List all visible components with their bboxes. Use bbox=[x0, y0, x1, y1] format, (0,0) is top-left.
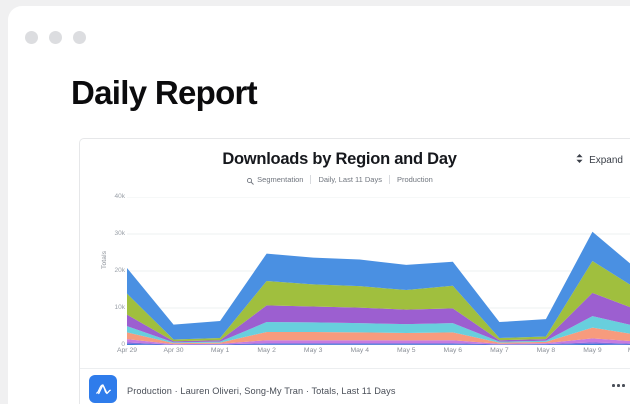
amplitude-logo-icon bbox=[89, 375, 117, 403]
x-axis-tick-label: May 2 bbox=[257, 347, 276, 354]
date-range-label: Daily, Last 11 Days bbox=[318, 175, 382, 184]
x-axis-tick-label: May 1 bbox=[211, 347, 230, 354]
segmentation-icon bbox=[246, 177, 254, 185]
page-title: Daily Report bbox=[71, 74, 257, 112]
x-axis-ticks: Apr 29Apr 30May 1May 2May 3May 4May 5May… bbox=[127, 347, 630, 361]
x-axis-tick-label: May 3 bbox=[304, 347, 323, 354]
maximize-window-dot[interactable] bbox=[73, 31, 86, 44]
date-range-chip[interactable]: Daily, Last 11 Days bbox=[311, 175, 389, 184]
environment-label: Production bbox=[397, 175, 433, 184]
x-axis-tick-label: May 6 bbox=[444, 347, 463, 354]
chart-card-footer: Production · Lauren Oliveri, Song-My Tra… bbox=[80, 368, 630, 404]
x-axis-tick-label: May 5 bbox=[397, 347, 416, 354]
x-axis-tick-label: May 9 bbox=[583, 347, 602, 354]
chart-card: Downloads by Region and Day Segmentation… bbox=[79, 138, 630, 404]
y-axis-tick-label: 10k bbox=[95, 304, 125, 311]
chart-subtitle: Segmentation Daily, Last 11 Days Product… bbox=[80, 175, 630, 184]
x-axis-tick-label: Apr 30 bbox=[164, 347, 184, 354]
chart-plot-area[interactable] bbox=[127, 197, 630, 345]
segmentation-label: Segmentation bbox=[257, 175, 303, 184]
x-axis-tick-label: May 7 bbox=[490, 347, 509, 354]
y-axis-ticks: 40k30k20k10k0 bbox=[87, 197, 125, 345]
minimize-window-dot[interactable] bbox=[49, 31, 62, 44]
app-window: Daily Report Downloads by Region and Day… bbox=[8, 6, 630, 404]
x-axis-tick-label: Apr 29 bbox=[117, 347, 137, 354]
close-window-dot[interactable] bbox=[25, 31, 38, 44]
chart-card-header: Downloads by Region and Day Segmentation… bbox=[80, 139, 630, 197]
y-axis-tick-label: 20k bbox=[95, 267, 125, 274]
window-traffic-lights bbox=[25, 31, 86, 44]
chart-plot-wrapper: Totals 40k30k20k10k0 Apr 29Apr 30May 1Ma… bbox=[80, 197, 630, 355]
y-axis-tick-label: 40k bbox=[95, 193, 125, 200]
expand-button[interactable]: Expand bbox=[575, 153, 623, 167]
footer-description: Production · Lauren Oliveri, Song-My Tra… bbox=[127, 386, 396, 396]
chart-title: Downloads by Region and Day bbox=[80, 150, 630, 169]
chevron-up-down-icon bbox=[575, 153, 584, 167]
y-axis-tick-label: 30k bbox=[95, 230, 125, 237]
environment-chip[interactable]: Production bbox=[390, 175, 440, 184]
segmentation-chip[interactable]: Segmentation bbox=[239, 175, 310, 184]
x-axis-tick-label: May 4 bbox=[350, 347, 369, 354]
x-axis-tick-label: May 8 bbox=[537, 347, 556, 354]
expand-label: Expand bbox=[589, 155, 623, 166]
overflow-menu-icon[interactable] bbox=[608, 380, 629, 391]
